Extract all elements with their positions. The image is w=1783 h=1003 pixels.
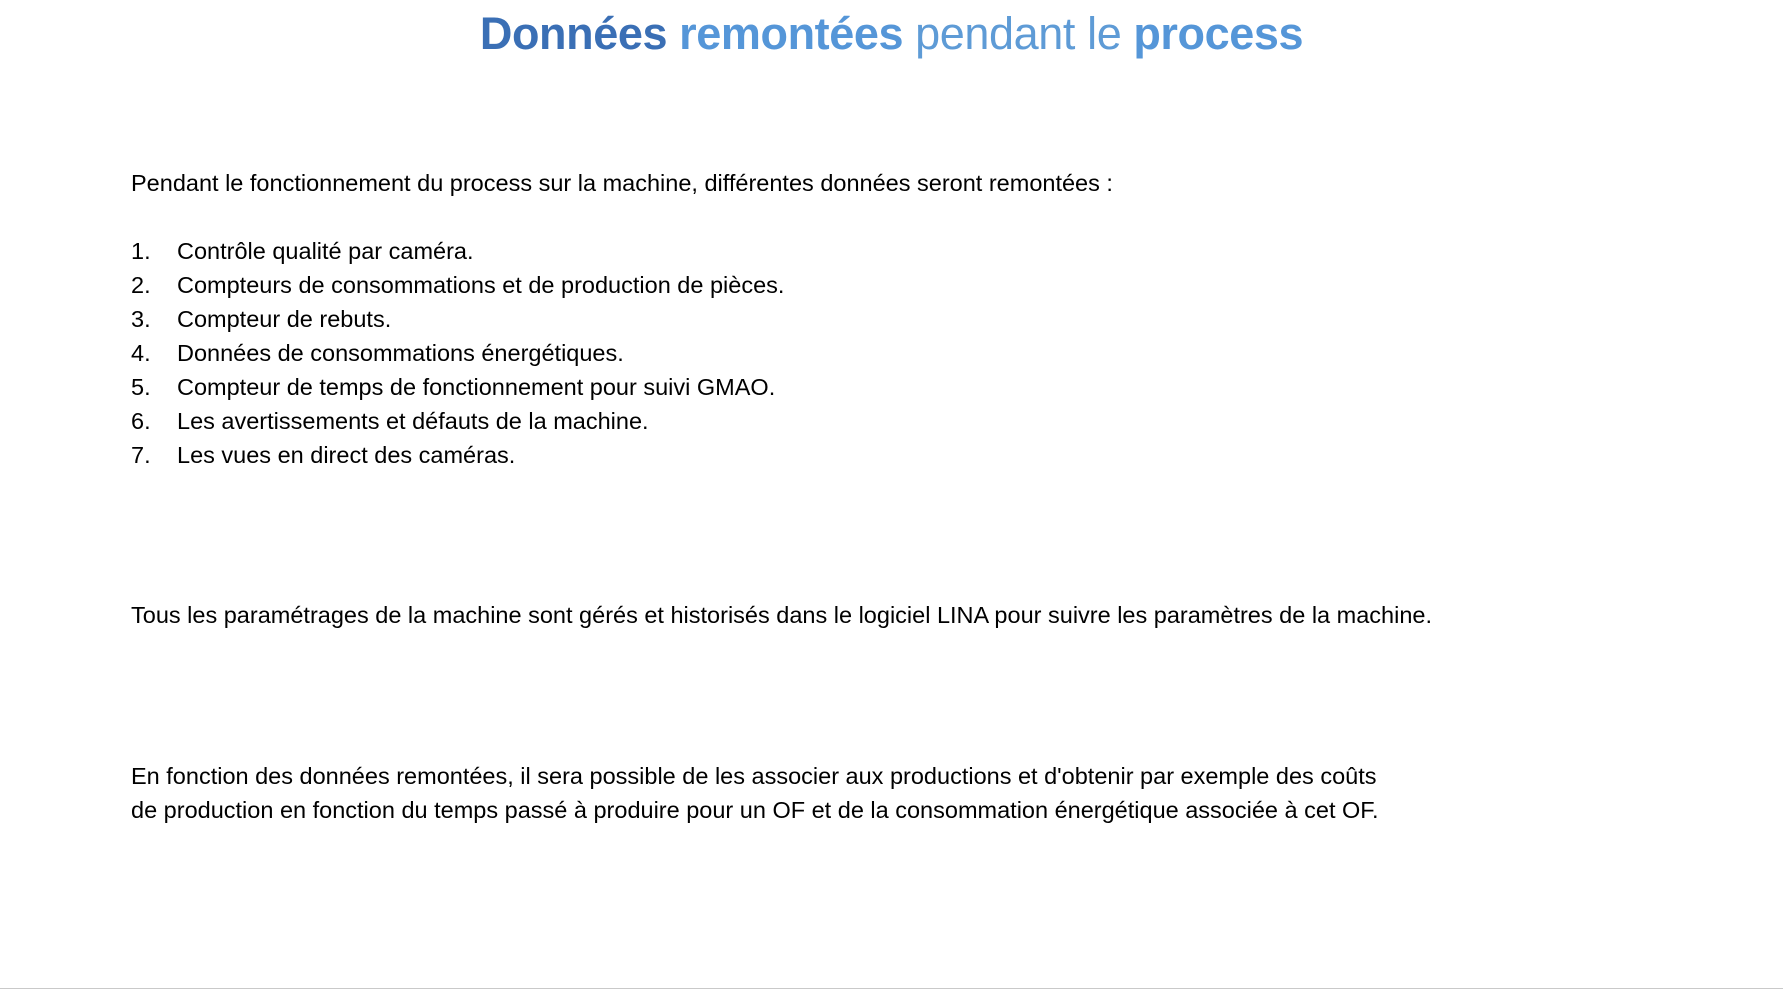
- title-segment-pendant-le: pendant le: [915, 8, 1121, 59]
- list-item-label: Les vues en direct des caméras.: [177, 438, 515, 472]
- paragraph-line: En fonction des données remontées, il se…: [131, 759, 1651, 793]
- lead-paragraph: Pendant le fonctionnement du process sur…: [131, 166, 1651, 200]
- list-item-number: 7.: [131, 438, 177, 472]
- title-segment-remontees: remontées: [679, 8, 903, 59]
- list-item-label: Contrôle qualité par caméra.: [177, 234, 474, 268]
- title-segment-donnees: Données: [480, 8, 667, 59]
- list-item: 3. Compteur de rebuts.: [131, 302, 1651, 336]
- list-item-label: Données de consommations énergétiques.: [177, 336, 624, 370]
- list-item: 5. Compteur de temps de fonctionnement p…: [131, 370, 1651, 404]
- list-item: 2. Compteurs de consommations et de prod…: [131, 268, 1651, 302]
- list-item: 7. Les vues en direct des caméras.: [131, 438, 1651, 472]
- list-item: 6. Les avertissements et défauts de la m…: [131, 404, 1651, 438]
- list-item-number: 6.: [131, 404, 177, 438]
- title-segment-process: process: [1133, 8, 1303, 59]
- slide-canvas: Donnéesremontéespendant leprocess Pendan…: [0, 0, 1783, 1003]
- list-item-number: 3.: [131, 302, 177, 336]
- list-item-label: Compteurs de consommations et de product…: [177, 268, 784, 302]
- paragraph-line: de production en fonction du temps passé…: [131, 793, 1651, 827]
- list-item: 4. Données de consommations énergétiques…: [131, 336, 1651, 370]
- slide-body: Pendant le fonctionnement du process sur…: [131, 166, 1651, 827]
- paragraph-couts-production: En fonction des données remontées, il se…: [131, 759, 1651, 827]
- list-item-number: 5.: [131, 370, 177, 404]
- slide-title: Donnéesremontéespendant leprocess: [0, 6, 1783, 62]
- list-item-label: Compteur de temps de fonctionnement pour…: [177, 370, 775, 404]
- list-item-label: Les avertissements et défauts de la mach…: [177, 404, 649, 438]
- list-item-number: 1.: [131, 234, 177, 268]
- list-item-number: 2.: [131, 268, 177, 302]
- list-item-label: Compteur de rebuts.: [177, 302, 391, 336]
- numbered-list: 1. Contrôle qualité par caméra. 2. Compt…: [131, 234, 1651, 472]
- list-item: 1. Contrôle qualité par caméra.: [131, 234, 1651, 268]
- paragraph-parametrages: Tous les paramétrages de la machine sont…: [131, 598, 1651, 632]
- footer-divider: [0, 988, 1783, 989]
- list-item-number: 4.: [131, 336, 177, 370]
